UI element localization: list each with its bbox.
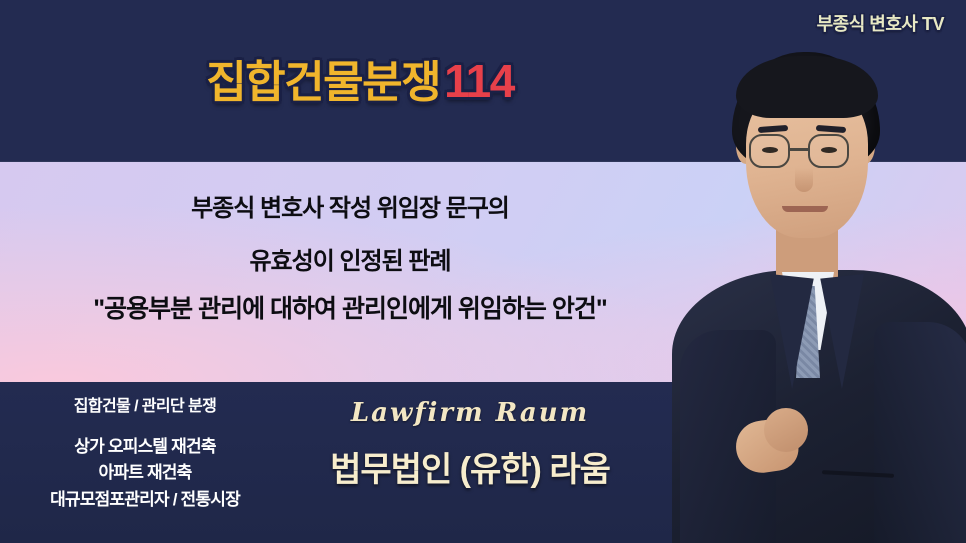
main-message: 부종식 변호사 작성 위임장 문구의 유효성이 인정된 판례 "공용부분 관리에…	[0, 196, 700, 323]
service-list: 집합건물 / 관리단 분쟁 상가 오피스텔 재건축 아파트 재건축 대규모점포관…	[0, 392, 290, 513]
list-item: 상가 오피스텔 재건축	[0, 434, 290, 460]
service-list-heading: 집합건물 / 관리단 분쟁	[0, 392, 290, 416]
list-item: 대규모점포관리자 / 전통시장	[0, 487, 290, 513]
message-line-1: 부종식 변호사 작성 위임장 문구의	[0, 196, 700, 221]
firm-script-logo: Lawfirm Raum	[270, 398, 670, 428]
message-line-3: "공용부분 관리에 대하여 관리인에게 위임하는 안건"	[0, 296, 700, 322]
title-number-text: 114	[444, 55, 514, 107]
message-line-2: 유효성이 인정된 판례	[0, 249, 700, 274]
channel-name-badge: 부종식 변호사 TV	[817, 10, 944, 36]
thumbnail-canvas: 부종식 변호사 TV 집합건물분쟁114 부종식 변호사 작성 위임장 문구의 …	[0, 0, 966, 543]
page-title: 집합건물분쟁114	[0, 58, 720, 105]
list-item: 아파트 재건축	[0, 460, 290, 486]
firm-name-korean: 법무법인 (유한) 라움	[270, 442, 670, 491]
title-main-text: 집합건물분쟁	[206, 58, 440, 107]
firm-branding: Lawfirm Raum 법무법인 (유한) 라움	[270, 398, 670, 491]
